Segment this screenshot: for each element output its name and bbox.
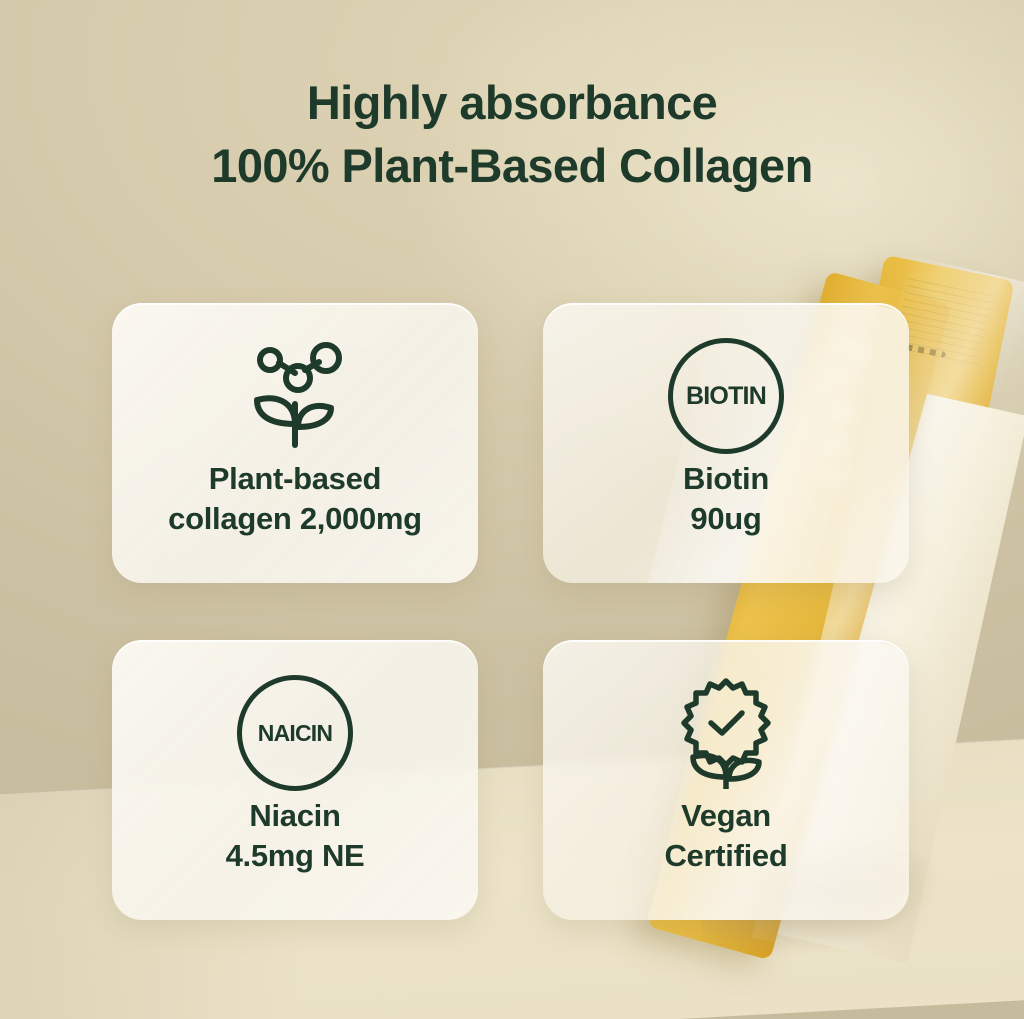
label-line-2: 90ug [683, 499, 769, 539]
label-line-1: Biotin [683, 459, 769, 499]
label-line-2: collagen 2,000mg [168, 499, 422, 539]
label-line-2: Certified [664, 836, 787, 876]
label-line-1: Vegan [664, 796, 787, 836]
biotin-badge-text: BIOTIN [686, 382, 766, 411]
benefit-card-plant-collagen: Plant-based collagen 2,000mg [112, 303, 478, 583]
headline-line-2: 100% Plant-Based Collagen [0, 135, 1024, 198]
label-line-2: 4.5mg NE [226, 836, 365, 876]
niacin-badge-icon: NAICIN [237, 676, 353, 790]
niacin-badge-circle: NAICIN [237, 675, 353, 791]
biotin-badge-circle: BIOTIN [668, 338, 784, 454]
niacin-badge-text: NAICIN [258, 720, 332, 747]
plant-molecule-icon [243, 339, 347, 453]
benefit-card-biotin: BIOTIN Biotin 90ug [543, 303, 909, 583]
benefit-card-label: Biotin 90ug [671, 459, 781, 540]
label-line-1: Plant-based [168, 459, 422, 499]
benefit-card-label: Vegan Certified [652, 796, 799, 877]
label-line-1: Niacin [226, 796, 365, 836]
benefit-card-vegan: Vegan Certified [543, 640, 909, 920]
benefit-card-niacin: NAICIN Niacin 4.5mg NE [112, 640, 478, 920]
promo-image: PLANT PLANT Highly absorbance 100% Plant… [0, 0, 1024, 1019]
headline-line-1: Highly absorbance [307, 76, 717, 129]
biotin-badge-icon: BIOTIN [668, 339, 784, 453]
page-title: Highly absorbance 100% Plant-Based Colla… [0, 72, 1024, 197]
benefit-card-label: Plant-based collagen 2,000mg [156, 459, 434, 540]
vegan-certified-icon [676, 676, 776, 790]
benefit-card-label: Niacin 4.5mg NE [214, 796, 377, 877]
